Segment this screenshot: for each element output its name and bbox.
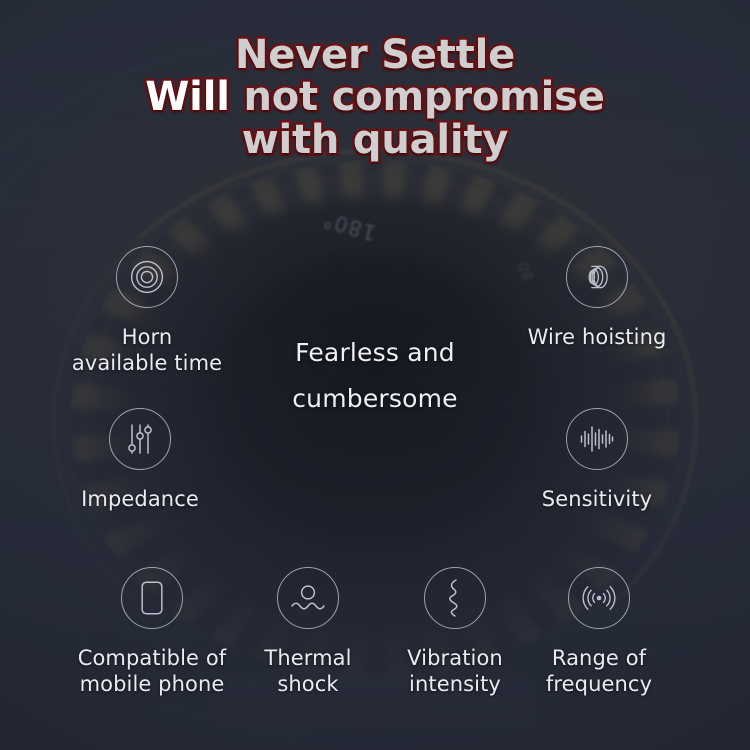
headline-line-1-text: Never Settle: [235, 32, 515, 78]
headline-line-2-text: not compromise: [230, 74, 605, 120]
coil-spool-icon: [566, 246, 628, 308]
sliders-icon: [109, 408, 171, 470]
concentric-circles-icon: [116, 246, 178, 308]
waveform-icon: [566, 408, 628, 470]
feature-label: Sensitivity: [502, 486, 692, 512]
feature-label: Wire hoisting: [502, 324, 692, 350]
headline-line-2: Will not compromise: [0, 76, 750, 118]
headline-emphasis-word: Will: [145, 74, 229, 120]
headline-line-3-text: with quality: [242, 117, 509, 163]
feature-impedance[interactable]: Impedance: [45, 408, 235, 512]
feature-range-of-frequency[interactable]: Range of frequency: [504, 567, 694, 698]
zigzag-wave-icon: [424, 567, 486, 629]
feature-label: Horn available time: [52, 324, 242, 377]
mobile-phone-icon: [121, 567, 183, 629]
feature-label: Range of frequency: [504, 645, 694, 698]
signal-waves-icon: [568, 567, 630, 629]
headline: Never Settle Will not compromise with qu…: [0, 34, 750, 161]
sun-heatwave-icon: [277, 567, 339, 629]
feature-label: Impedance: [45, 486, 235, 512]
headline-line-1: Never Settle: [0, 34, 750, 76]
feature-horn-available-time[interactable]: Horn available time: [52, 246, 242, 377]
feature-sensitivity[interactable]: Sensitivity: [502, 408, 692, 512]
product-feature-poster: 180° 80 Never Settle Will not compromise…: [0, 0, 750, 750]
feature-wire-hoisting[interactable]: Wire hoisting: [502, 246, 692, 350]
headline-line-3: with quality: [0, 119, 750, 161]
